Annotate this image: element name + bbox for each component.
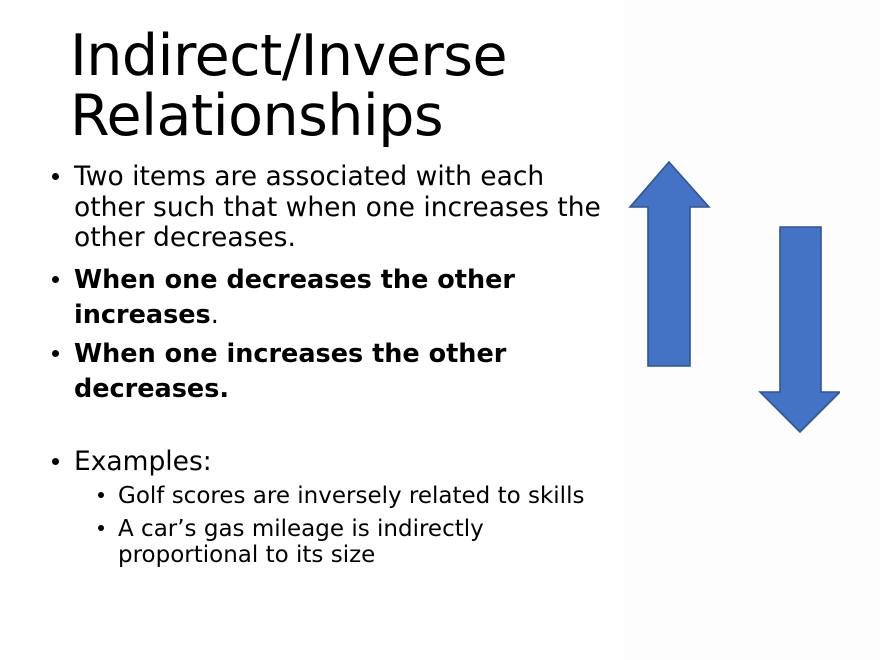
bullet-item-2-text: When one decreases the other increases (74, 265, 515, 330)
bullet-item-2-period: . (211, 300, 219, 330)
bullet-item-1-text: Two items are associated with each other… (74, 161, 601, 253)
blank-line-spacer (46, 407, 616, 447)
bullet-gap (46, 254, 616, 263)
sub-bullet-item-1-text: Golf scores are inversely related to ski… (118, 483, 584, 509)
page-title: Indirect/Inverse Relationships (70, 26, 710, 146)
arrows-graphic (620, 150, 840, 450)
bullet-item-3-text: When one increases the other decreases. (74, 339, 506, 404)
slide-body: Two items are associated with each other… (46, 162, 616, 569)
bullet-item-2: When one decreases the other increases. (46, 263, 616, 333)
down-arrow-icon (760, 227, 840, 432)
sub-bullet-item-1: Golf scores are inversely related to ski… (46, 483, 616, 510)
sub-bullet-item-2-text: A car’s gas mileage is indirectly propor… (118, 516, 484, 569)
bullet-item-1: Two items are associated with each other… (46, 162, 616, 254)
bullet-item-4-text: Examples: (74, 446, 212, 477)
up-arrow-icon (630, 162, 709, 366)
bullet-item-3: When one increases the other decreases. (46, 337, 616, 407)
slide-canvas: Indirect/Inverse Relationships Two items… (0, 0, 880, 660)
bullet-item-4: Examples: (46, 447, 616, 478)
sub-bullet-item-2: A car’s gas mileage is indirectly propor… (46, 516, 616, 569)
